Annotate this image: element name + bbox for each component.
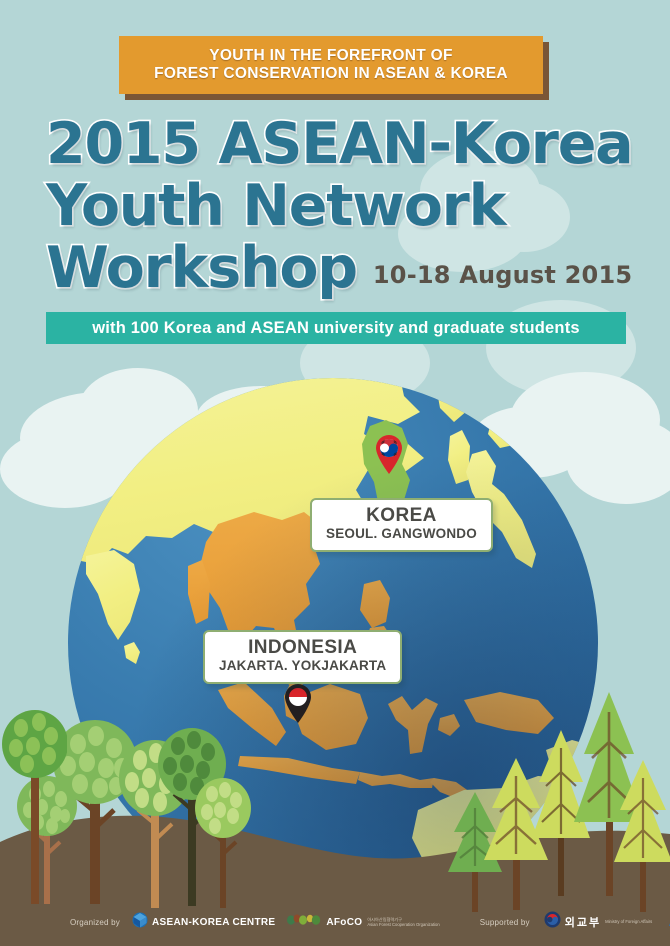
logo-afoco[interactable]: AFoCO 아시아산림협력기구 Asian Forest Cooperation… <box>287 913 439 931</box>
page-title: 2015 ASEAN-Korea Youth Network Workshop … <box>46 113 646 299</box>
asean-korea-centre-globe-icon <box>132 912 148 933</box>
map-label-korea-country: KOREA <box>366 506 437 526</box>
deciduous-tree <box>1 706 67 904</box>
map-label-indonesia-cities: JAKARTA. YOKJAKARTA <box>219 658 386 675</box>
poster-canvas: YOUTH IN THE FOREFRONT OF FOREST CONSERV… <box>0 0 670 946</box>
map-label-korea[interactable]: KOREA SEOUL. GANGWONDO <box>310 498 493 552</box>
subtitle-text: with 100 Korea and ASEAN university and … <box>92 319 580 338</box>
footer-organized-group: Organized by ASEAN-KOREA CENTRE <box>70 912 440 933</box>
footer-bar: Organized by ASEAN-KOREA CENTRE <box>0 898 670 946</box>
header-banner-line-2: FOREST CONSERVATION IN ASEAN & KOREA <box>154 65 508 83</box>
deciduous-tree <box>194 776 252 908</box>
map-label-korea-cities: SEOUL. GANGWONDO <box>326 526 477 543</box>
mofa-label-ko: 외교부 <box>565 914 601 930</box>
supported-by-label: Supported by <box>480 918 530 927</box>
korea-flag-pin[interactable] <box>374 435 404 475</box>
afoco-label: AFoCO <box>326 917 362 928</box>
logo-korea-forest-service[interactable]: 산림청 KOREA FOREST SERVICE <box>666 912 670 932</box>
logo-mofa[interactable]: 외교부 Ministry of Foreign Affairs <box>544 911 653 933</box>
asean-korea-centre-label: ASEAN-KOREA CENTRE <box>152 917 275 928</box>
subtitle-band: with 100 Korea and ASEAN university and … <box>46 312 626 344</box>
indonesia-flag-pin[interactable] <box>283 684 313 724</box>
conifer-tree <box>610 756 670 912</box>
map-label-indonesia-country: INDONESIA <box>248 638 357 658</box>
mofa-label-en: Ministry of Foreign Affairs <box>605 919 652 924</box>
footer-supported-group: Supported by 외교부 Ministry of Foreign Aff… <box>480 910 670 935</box>
title-line-1: 2015 ASEAN-Korea <box>46 113 646 175</box>
title-line-3: Workshop <box>46 237 357 299</box>
organized-by-label: Organized by <box>70 918 120 927</box>
title-line-3-row: Workshop 10-18 August 2015 <box>46 237 646 299</box>
header-banner-line-1: YOUTH IN THE FOREFRONT OF <box>209 47 452 65</box>
afoco-leaves-icon <box>287 913 321 931</box>
cloud-icon <box>0 430 130 508</box>
korea-forest-service-icon <box>666 912 670 932</box>
header-banner: YOUTH IN THE FOREFRONT OF FOREST CONSERV… <box>119 36 543 94</box>
title-line-2: Youth Network <box>46 175 646 237</box>
logo-asean-korea-centre[interactable]: ASEAN-KOREA CENTRE <box>132 912 275 933</box>
map-label-indonesia[interactable]: INDONESIA JAKARTA. YOKJAKARTA <box>203 630 402 684</box>
event-date: 10-18 August 2015 <box>373 261 632 299</box>
afoco-subtitle-en: Asian Forest Cooperation Organization <box>367 922 439 927</box>
afoco-subtitle-block: 아시아산림협력기구 Asian Forest Cooperation Organ… <box>367 917 439 928</box>
mofa-emblem-icon <box>544 911 561 933</box>
